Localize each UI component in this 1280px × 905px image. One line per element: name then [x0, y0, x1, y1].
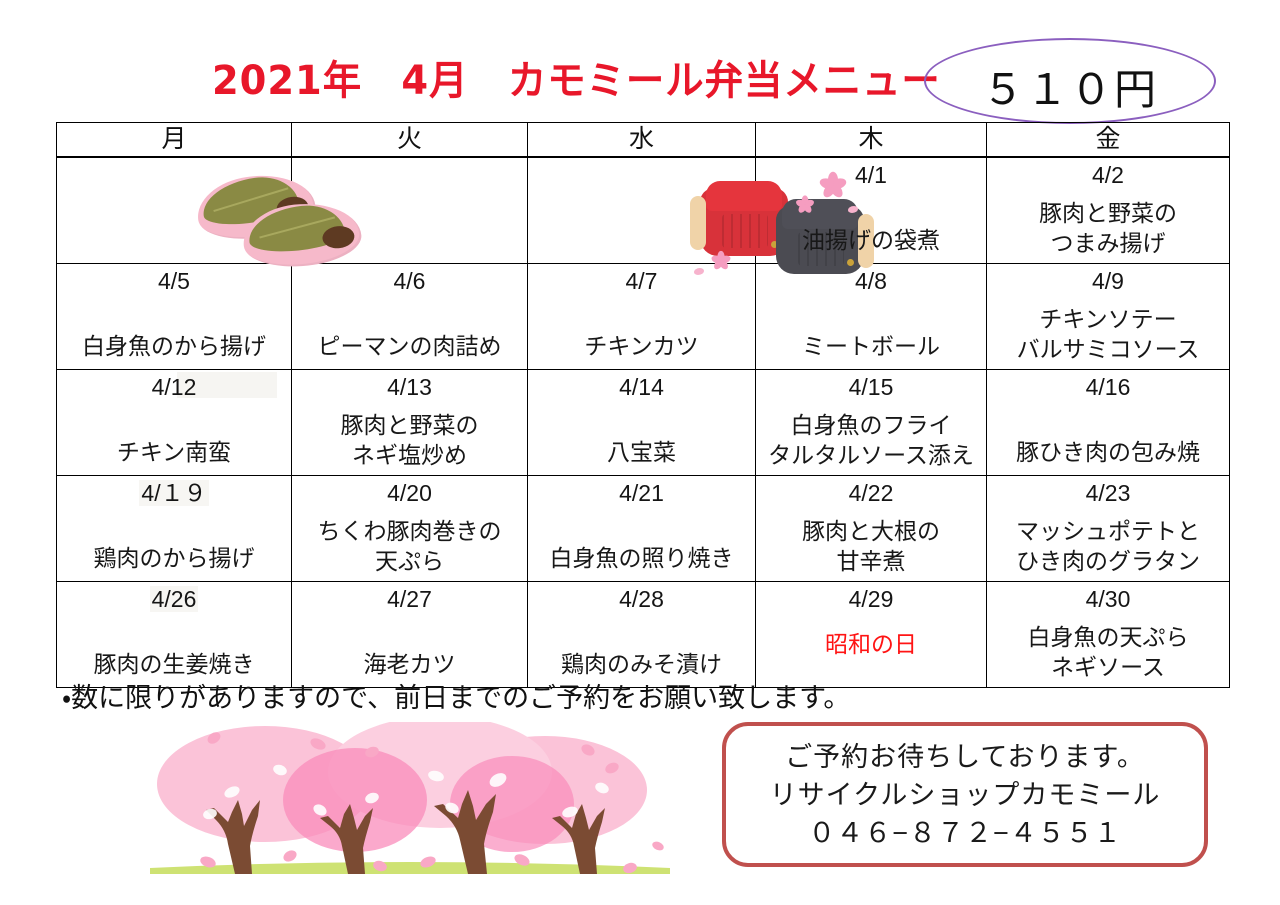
- calendar-week-row: 4/5 白身魚のから揚げ 4/6 ピーマンの肉詰め 4/7 チキンカツ 4/8: [57, 264, 1230, 370]
- calendar-cell: 4/28 鶏肉のみそ漬け: [528, 582, 756, 688]
- menu-line: 八宝菜: [532, 438, 751, 467]
- cell-menu: 豚ひき肉の包み焼: [987, 438, 1229, 467]
- weekday-header-wed: 水: [528, 123, 756, 158]
- contact-line-reservation: ご予約お待ちしております。: [785, 738, 1145, 776]
- cell-menu: 海老カツ: [292, 650, 527, 679]
- cell-date: 4/15: [756, 374, 986, 400]
- menu-line: ちくわ豚肉巻きの: [296, 516, 523, 546]
- contact-line-phone: ０４６−８７２−４５５１: [808, 814, 1122, 852]
- menu-line: 白身魚の照り焼き: [532, 544, 751, 573]
- calendar-cell: 4/1 油揚げの袋煮: [756, 157, 987, 264]
- cell-menu: 鶏肉のみそ漬け: [528, 650, 755, 679]
- page-title: 2021年 4月 カモミール弁当メニュー: [212, 48, 941, 106]
- menu-line: 鶏肉のみそ漬け: [532, 650, 751, 679]
- cell-menu: チキン南蛮: [57, 438, 291, 467]
- cell-menu: 豚肉と野菜の ネギ塩炒め: [292, 410, 527, 470]
- menu-line: マッシュポテトと: [991, 516, 1225, 546]
- calendar-cell: 4/7 チキンカツ: [528, 264, 756, 370]
- cell-date: 4/26: [57, 586, 291, 612]
- menu-line: 豚肉と野菜の: [296, 410, 523, 440]
- menu-line: 甘辛煮: [760, 546, 982, 576]
- calendar-cell: 4/12 チキン南蛮: [57, 370, 292, 476]
- weekday-header-tue: 火: [292, 123, 528, 158]
- menu-line: ミートボール: [760, 332, 982, 361]
- calendar-cell: 4/2 豚肉と野菜の つまみ揚げ: [987, 157, 1230, 264]
- calendar-cell: 4/27 海老カツ: [292, 582, 528, 688]
- menu-line: 油揚げの袋煮: [760, 226, 982, 255]
- cell-menu: 白身魚の照り焼き: [528, 544, 755, 573]
- reservation-note: ・数に限りがありますので、前日までのご予約をお願い致します。: [62, 681, 850, 715]
- cell-date: 4/23: [987, 480, 1229, 506]
- cell-date: 4/2: [987, 162, 1229, 188]
- calendar-week-row: 4/1 油揚げの袋煮 4/2 豚肉と野菜の つまみ揚げ: [57, 157, 1230, 264]
- cell-date: 4/29: [756, 586, 986, 612]
- cell-date: 4/13: [292, 374, 527, 400]
- calendar-cell: 4/30 白身魚の天ぷら ネギソース: [987, 582, 1230, 688]
- cell-date: 4/12: [57, 374, 291, 400]
- cell-date: 4/20: [292, 480, 527, 506]
- calendar-cell: 4/9 チキンソテー バルサミコソース: [987, 264, 1230, 370]
- weekday-header-thu: 木: [756, 123, 987, 158]
- calendar-cell: 4/１９ 鶏肉のから揚げ: [57, 476, 292, 582]
- cell-date: 4/27: [292, 586, 527, 612]
- calendar-cell: 4/21 白身魚の照り焼き: [528, 476, 756, 582]
- cell-date-text: 4/26: [150, 586, 199, 612]
- cell-date: 4/8: [756, 268, 986, 294]
- calendar-week-row: 4/１９ 鶏肉のから揚げ 4/20 ちくわ豚肉巻きの 天ぷら 4/21 白身魚の…: [57, 476, 1230, 582]
- cell-menu: 豚肉と大根の 甘辛煮: [756, 516, 986, 576]
- calendar-cell: 4/14 八宝菜: [528, 370, 756, 476]
- weekday-header-mon: 月: [57, 123, 292, 158]
- menu-line: 白身魚のフライ: [760, 410, 982, 440]
- menu-line: バルサミコソース: [991, 334, 1225, 364]
- calendar-cell: 4/5 白身魚のから揚げ: [57, 264, 292, 370]
- cell-date: 4/21: [528, 480, 755, 506]
- cell-date: 4/6: [292, 268, 527, 294]
- cell-menu: 鶏肉のから揚げ: [57, 544, 291, 573]
- menu-calendar-table: 月 火 水 木 金: [56, 122, 1230, 688]
- menu-line: 海老カツ: [296, 650, 523, 679]
- calendar-cell: 4/16 豚ひき肉の包み焼: [987, 370, 1230, 476]
- weekday-header-fri: 金: [987, 123, 1230, 158]
- calendar-week-row: 4/12 チキン南蛮 4/13 豚肉と野菜の ネギ塩炒め 4/14 八宝菜 4/: [57, 370, 1230, 476]
- header-bar: 2021年 4月 カモミール弁当メニュー ５１０円: [0, 42, 1280, 120]
- menu-line: チキン南蛮: [61, 438, 287, 467]
- cell-menu: チキンソテー バルサミコソース: [987, 304, 1229, 364]
- cell-date: 4/１９: [57, 480, 291, 506]
- cell-menu: ちくわ豚肉巻きの 天ぷら: [292, 516, 527, 576]
- calendar-cell: 4/6 ピーマンの肉詰め: [292, 264, 528, 370]
- cell-date-text: 4/１９: [139, 480, 208, 506]
- menu-line: 白身魚の天ぷら: [991, 622, 1225, 652]
- menu-line: ピーマンの肉詰め: [296, 332, 523, 361]
- calendar-cell: 4/8 ミートボール: [756, 264, 987, 370]
- cell-menu: 豚肉と野菜の つまみ揚げ: [987, 198, 1229, 258]
- cell-date: 4/30: [987, 586, 1229, 612]
- cell-menu: マッシュポテトと ひき肉のグラタン: [987, 516, 1229, 576]
- cell-menu: 白身魚のフライ タルタルソース添え: [756, 410, 986, 470]
- menu-line: ネギ塩炒め: [296, 440, 523, 470]
- cell-date: 4/5: [57, 268, 291, 294]
- calendar-week-row: 4/26 豚肉の生姜焼き 4/27 海老カツ 4/28 鶏肉のみそ漬け 4/29: [57, 582, 1230, 688]
- cell-date: 4/28: [528, 586, 755, 612]
- cell-menu: ピーマンの肉詰め: [292, 332, 527, 361]
- calendar-cell: [292, 157, 528, 264]
- menu-line: ひき肉のグラタン: [991, 546, 1225, 576]
- menu-line: 豚肉と大根の: [760, 516, 982, 546]
- cell-menu: 豚肉の生姜焼き: [57, 650, 291, 679]
- cell-menu: 白身魚の天ぷら ネギソース: [987, 622, 1229, 682]
- menu-line: 豚肉と野菜の: [991, 198, 1225, 228]
- cell-menu-holiday: 昭和の日: [756, 630, 986, 659]
- price-label: ５１０円: [924, 56, 1216, 117]
- menu-line: チキンソテー: [991, 304, 1225, 334]
- cell-date: 4/16: [987, 374, 1229, 400]
- calendar-cell: 4/26 豚肉の生姜焼き: [57, 582, 292, 688]
- cell-menu: チキンカツ: [528, 332, 755, 361]
- menu-line: 豚ひき肉の包み焼: [991, 438, 1225, 467]
- calendar-cell: 4/23 マッシュポテトと ひき肉のグラタン: [987, 476, 1230, 582]
- menu-line: 白身魚のから揚げ: [61, 332, 287, 361]
- cell-menu: 油揚げの袋煮: [756, 226, 986, 255]
- contact-info-box: ご予約お待ちしております。 リサイクルショップカモミール ０４６−８７２−４５５…: [722, 722, 1208, 867]
- menu-line: タルタルソース添え: [760, 440, 982, 470]
- calendar-cell: [57, 157, 292, 264]
- cell-menu: ミートボール: [756, 332, 986, 361]
- cell-date: 4/14: [528, 374, 755, 400]
- cell-date: 4/9: [987, 268, 1229, 294]
- holiday-label: 昭和の日: [760, 630, 982, 659]
- calendar-cell: 4/13 豚肉と野菜の ネギ塩炒め: [292, 370, 528, 476]
- cell-date: 4/22: [756, 480, 986, 506]
- weekday-header-row: 月 火 水 木 金: [57, 123, 1230, 158]
- menu-line: 鶏肉のから揚げ: [61, 544, 287, 573]
- calendar-cell: 4/20 ちくわ豚肉巻きの 天ぷら: [292, 476, 528, 582]
- calendar-cell: 4/29 昭和の日: [756, 582, 987, 688]
- calendar-cell: [528, 157, 756, 264]
- cell-menu: 八宝菜: [528, 438, 755, 467]
- cherry-blossom-trees-illustration: [140, 722, 680, 892]
- menu-line: チキンカツ: [532, 332, 751, 361]
- menu-line: つまみ揚げ: [991, 228, 1225, 258]
- cell-menu: 白身魚のから揚げ: [57, 332, 291, 361]
- menu-line: 天ぷら: [296, 546, 523, 576]
- menu-line: ネギソース: [991, 652, 1225, 682]
- contact-line-shop-name: リサイクルショップカモミール: [770, 776, 1161, 814]
- menu-line: 豚肉の生姜焼き: [61, 650, 287, 679]
- calendar-cell: 4/15 白身魚のフライ タルタルソース添え: [756, 370, 987, 476]
- cell-date: 4/1: [756, 162, 986, 188]
- cell-date: 4/7: [528, 268, 755, 294]
- calendar-cell: 4/22 豚肉と大根の 甘辛煮: [756, 476, 987, 582]
